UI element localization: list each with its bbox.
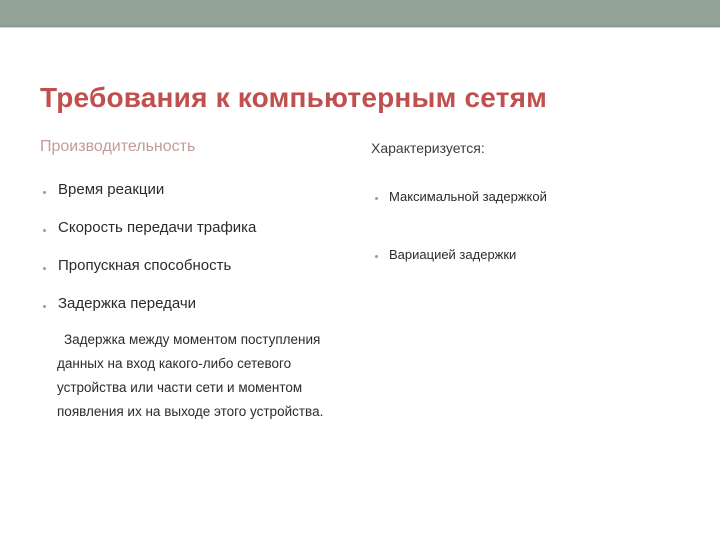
right-bullet-list: Максимальной задержкой Вариацией задержк… (371, 188, 691, 264)
list-item-label: Вариацией задержки (389, 247, 516, 262)
list-item-label: Скорость передачи трафика (58, 219, 256, 236)
list-item: Вариацией задержки (371, 246, 691, 264)
list-item: Максимальной задержкой (371, 188, 691, 206)
right-column: Характеризуется: Максимальной задержкой … (371, 138, 691, 264)
bullet-dot-icon (43, 229, 46, 232)
list-item: Скорость передачи трафика (40, 218, 360, 238)
left-column: Производительность Время реакции Скорост… (40, 136, 360, 424)
bullet-dot-icon (43, 267, 46, 270)
slide-title: Требования к компьютерным сетям (40, 81, 690, 115)
left-bullet-list: Время реакции Скорость передачи трафика … (40, 180, 360, 314)
right-column-heading: Характеризуется: (371, 138, 691, 158)
slide-header-band (0, 0, 720, 25)
left-column-heading: Производительность (40, 136, 360, 158)
bullet-dot-icon (375, 255, 378, 258)
list-item-label: Задержка передачи (58, 295, 196, 312)
bullet-dot-icon (375, 197, 378, 200)
bullet-dot-icon (43, 191, 46, 194)
list-item: Пропускная способность (40, 256, 360, 276)
slide-header-band-highlight (0, 27, 720, 28)
list-item: Задержка передачи (40, 294, 360, 314)
bullet-dot-icon (43, 305, 46, 308)
list-item: Время реакции (40, 180, 360, 200)
list-item-label: Максимальной задержкой (389, 189, 547, 204)
definition-paragraph: Задержка между моментом поступления данн… (57, 328, 342, 424)
list-item-label: Время реакции (58, 181, 164, 198)
presentation-slide: Требования к компьютерным сетям Производ… (0, 0, 720, 540)
list-item-label: Пропускная способность (58, 257, 231, 274)
